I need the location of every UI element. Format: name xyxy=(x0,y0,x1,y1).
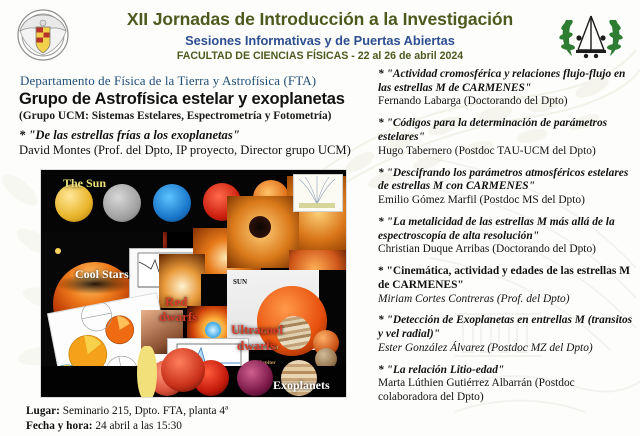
jupiter-sphere xyxy=(277,316,311,350)
talk-author: Christian Duque Arribas (Doctorando del … xyxy=(378,243,636,257)
magnetic-field-lines xyxy=(293,174,341,210)
talk-entry: * "Códigos para la determinación de pará… xyxy=(378,117,636,158)
talk-author: Marta Lúthien Gutiérrez Albarrán (Postdo… xyxy=(378,377,636,405)
flare-star-core xyxy=(205,322,221,338)
stellar-astrophysics-image-collage: SUN Low-mass star Brown Dwarf Jupiter Ea… xyxy=(41,170,346,397)
footer-place-value: Seminario 215, Dpto. FTA, planta 4ª xyxy=(60,405,228,417)
cool-star-dark-band xyxy=(57,274,133,294)
department-line: Departamento de Física de la Tierra y As… xyxy=(20,73,370,89)
footer-place-line: Lugar: Seminario 215, Dpto. FTA, planta … xyxy=(26,404,366,419)
red-spotted-star-right xyxy=(161,348,205,392)
poster-footer: Lugar: Seminario 215, Dpto. FTA, planta … xyxy=(26,404,366,435)
talk-title: * "Cinemática, actividad y edades de las… xyxy=(378,265,636,292)
talk-author: Miriam Cortes Contreras (Prof. del Dpto) xyxy=(378,293,636,307)
talk-title: * "Actividad cromosférica y relaciones f… xyxy=(378,68,636,95)
right-column-talk-list: * "Actividad cromosférica y relaciones f… xyxy=(378,68,636,413)
talk-entry: * "Descifrando los parámetros atmosféric… xyxy=(378,167,636,208)
main-talk-author: David Montes (Prof. del Dpto, IP proyect… xyxy=(19,143,370,158)
talk-entry: * "La relación Litio-edad" Marta Lúthien… xyxy=(378,364,636,406)
talk-title: * "La metalicidad de las estrellas M más… xyxy=(378,216,636,243)
main-talk-title: * "De las estrellas frías a los exoplane… xyxy=(19,128,370,143)
group-subtitle: (Grupo UCM: Sistemas Estelares, Espectro… xyxy=(19,110,370,122)
talk-title: * "Descifrando los parámetros atmosféric… xyxy=(378,167,636,194)
yellow-arc xyxy=(137,346,157,397)
footer-datetime-label: Fecha y hora: xyxy=(26,420,93,432)
talk-author: Hugo Tabernero (Postdoc TAU-UCM del Dpto… xyxy=(378,145,636,159)
talk-entry: * "La metalicidad de las estrellas M más… xyxy=(378,216,636,257)
exoplanet-disk-jupiter xyxy=(281,360,317,396)
event-subtitle: Sesiones Informativas y de Puertas Abier… xyxy=(90,33,550,48)
sunspot-umbra xyxy=(249,216,271,238)
sun-disk-visible xyxy=(55,184,93,222)
talk-author: Ester González Álvarez (Postdoc MZ del D… xyxy=(378,342,636,356)
event-faculty-dates: FACULTAD DE CIENCIAS FÍSICAS - 22 al 26 … xyxy=(90,50,550,62)
sun-disk-magnetogram xyxy=(103,184,141,222)
group-title: Grupo de Astrofísica estelar y exoplanet… xyxy=(19,90,370,109)
footer-datetime-line: Fecha y hora: 24 abril a las 15:30 xyxy=(26,419,366,434)
talk-title: * "Códigos para la determinación de pará… xyxy=(378,117,636,144)
poster-header: XII Jornadas de Introducción a la Invest… xyxy=(0,0,640,68)
ucm-coat-of-arms-logo xyxy=(14,7,72,63)
talk-title: * "Detección de Exoplanetas en entrellas… xyxy=(378,314,636,341)
talk-entry: * "Cinemática, actividad y edades de las… xyxy=(378,265,636,306)
talk-author: Emilio Gómez Marfil (Postdoc MS del Dpto… xyxy=(378,194,636,208)
exoplanet-disk-3 xyxy=(237,360,273,396)
footer-place-label: Lugar: xyxy=(26,405,60,417)
faculty-of-physics-logo xyxy=(558,8,624,64)
talk-author: Fernando Labarga (Doctorando del Dpto) xyxy=(378,95,636,109)
left-column: Departamento de Física de la Tierra y As… xyxy=(18,70,370,161)
poster-canvas: XII Jornadas de Introducción a la Invest… xyxy=(0,0,640,436)
sun-disk-uv-blue xyxy=(153,184,191,222)
talk-entry: * "Actividad cromosférica y relaciones f… xyxy=(378,68,636,109)
event-title: XII Jornadas de Introducción a la Invest… xyxy=(90,9,550,30)
talk-title: * "La relación Litio-edad" xyxy=(378,364,636,378)
talk-entry: * "Detección de Exoplanetas en entrellas… xyxy=(378,314,636,355)
star-dot-yellow xyxy=(55,248,61,254)
prominence-image-b xyxy=(159,254,205,308)
footer-datetime-value: 24 abril a las 15:30 xyxy=(93,420,182,432)
